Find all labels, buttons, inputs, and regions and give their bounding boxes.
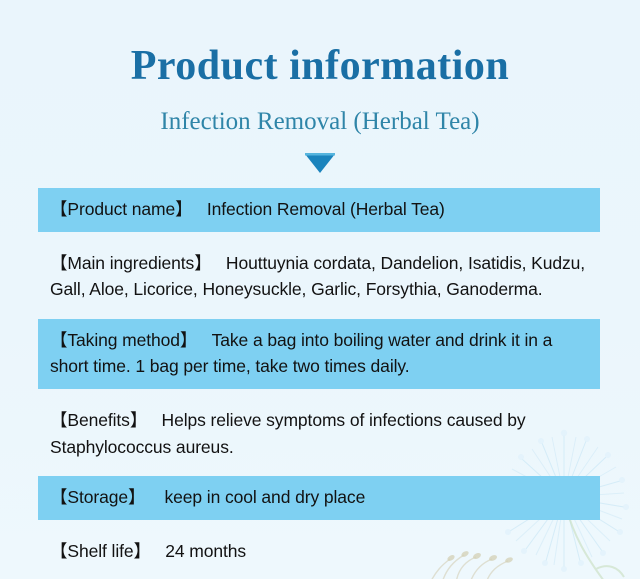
info-row-benefits: 【Benefits】 Helps relieve symptoms of inf… xyxy=(38,399,600,469)
page-subtitle: Infection Removal (Herbal Tea) xyxy=(0,108,640,136)
arrow-down-divider xyxy=(0,152,640,174)
row-spacer xyxy=(38,469,600,476)
info-row-label: 【Benefits】 xyxy=(50,410,147,430)
row-spacer xyxy=(38,520,600,530)
row-spacer xyxy=(38,312,600,319)
info-row-label: 【Storage】 xyxy=(50,487,145,507)
info-row-label: 【Shelf life】 xyxy=(50,541,151,561)
page-title: Product information xyxy=(0,44,640,88)
info-row-value: keep in cool and dry place xyxy=(164,487,365,507)
triangle-down-icon xyxy=(303,152,337,174)
info-row-main-ingredients: 【Main ingredients】 Houttuynia cordata, D… xyxy=(38,242,600,312)
row-spacer xyxy=(38,389,600,399)
info-row-value: Infection Removal (Herbal Tea) xyxy=(207,199,445,219)
product-information-page: Product information Infection Removal (H… xyxy=(0,0,640,579)
info-row-storage: 【Storage】 keep in cool and dry place xyxy=(38,476,600,520)
row-spacer xyxy=(38,232,600,242)
product-info-list: 【Product name】 Infection Removal (Herbal… xyxy=(38,188,600,573)
info-row-taking-method: 【Taking method】 Take a bag into boiling … xyxy=(38,319,600,389)
info-row-label: 【Main ingredients】 xyxy=(50,253,212,273)
info-row-product-name: 【Product name】 Infection Removal (Herbal… xyxy=(38,188,600,232)
info-row-label: 【Taking method】 xyxy=(50,330,197,350)
info-row-value: 24 months xyxy=(165,541,246,561)
info-row-label: 【Product name】 xyxy=(50,199,193,219)
info-row-shelf-life: 【Shelf life】 24 months xyxy=(38,530,600,574)
